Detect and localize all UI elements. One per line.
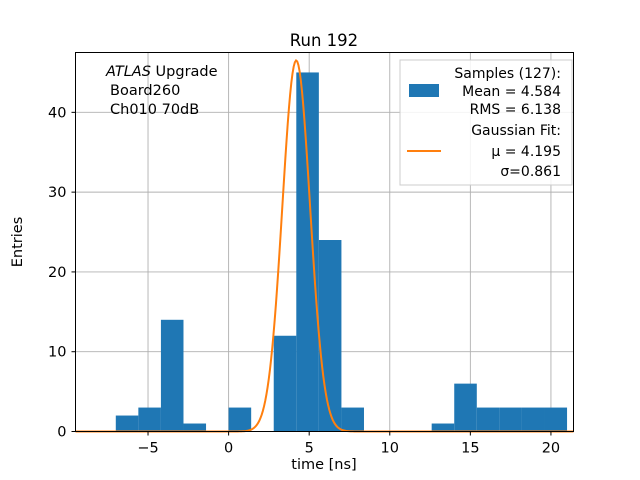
legend-mean: Mean = 4.584 (462, 84, 561, 100)
x-tick-label: 10 (381, 441, 399, 457)
histogram-bar (544, 408, 567, 432)
histogram-bar (116, 416, 139, 432)
x-tick-label: 5 (305, 441, 314, 457)
legend-sigma: σ=0.861 (500, 164, 561, 180)
y-tick-label: 40 (48, 105, 66, 121)
histogram-bar (477, 408, 500, 432)
histogram-bar (319, 240, 342, 431)
x-axis-label: time [ns] (291, 457, 356, 473)
legend-hist-swatch (409, 84, 439, 97)
legend-fit-header: Gaussian Fit: (471, 123, 561, 139)
y-tick-label: 20 (48, 265, 66, 281)
histogram-bar (274, 336, 297, 432)
x-tick-label: 0 (224, 441, 233, 457)
annotation-line-1: ATLAS Upgrade (105, 64, 218, 80)
histogram-bar (522, 408, 545, 432)
x-tick-label: 20 (542, 441, 560, 457)
figure-canvas: −505101520 010203040 Run 192 time [ns] E… (0, 0, 640, 480)
y-tick-label: 10 (48, 345, 66, 361)
y-tick-label: 0 (57, 425, 66, 441)
annotation-line-2: Board260 (110, 83, 180, 99)
y-tick-label: 30 (48, 185, 66, 201)
legend-rms: RMS = 6.138 (470, 102, 561, 118)
legend-samples-header: Samples (127): (454, 66, 561, 82)
legend-mu: μ = 4.195 (491, 144, 561, 160)
histogram-bar (161, 320, 184, 432)
page-title: Run 192 (290, 31, 358, 50)
histogram-bar (432, 424, 455, 432)
histogram-bar (454, 384, 477, 432)
x-tick-label: −5 (137, 441, 158, 457)
x-tick-label: 15 (461, 441, 479, 457)
annotation-line-3: Ch010 70dB (110, 102, 199, 118)
histogram-bar (138, 408, 161, 432)
histogram-bar (296, 72, 319, 431)
y-axis-label: Entries (10, 217, 26, 268)
histogram-bar (499, 408, 522, 432)
legend: Samples (127): Mean = 4.584 RMS = 6.138 … (400, 60, 572, 185)
histogram-plot: −505101520 010203040 Run 192 time [ns] E… (0, 0, 640, 480)
histogram-bar (229, 408, 252, 432)
atlas-label: ATLAS (105, 64, 151, 80)
histogram-bar (183, 424, 206, 432)
histogram-bar (341, 408, 364, 432)
upgrade-label: Upgrade (151, 64, 218, 80)
